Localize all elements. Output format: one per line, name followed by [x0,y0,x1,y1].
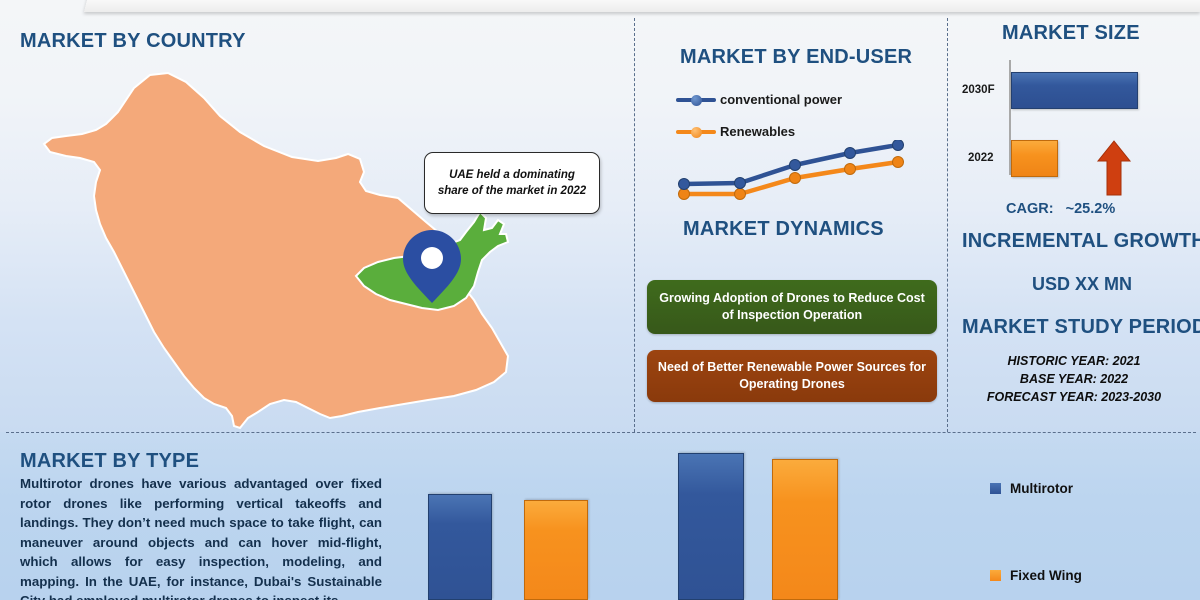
legend-line-swatch-blue [676,94,716,106]
vertical-divider-right [947,18,948,432]
map-svg [8,60,608,430]
study-period-historic-year: HISTORIC YEAR: 2021 [952,352,1196,370]
legend-swatch-multirotor [990,483,1001,494]
legend-swatch-fixed-wing [990,570,1001,581]
growth-arrow-icon [1096,140,1132,196]
market-by-end-user-heading: MARKET BY END-USER [680,46,912,69]
horizontal-divider [6,432,1196,433]
legend-line-swatch-orange [676,126,716,138]
type-bar-fixedwing-2022[interactable] [524,500,588,600]
market-dynamics-restraint-text: Need of Better Renewable Power Sources f… [657,359,927,393]
type-bar-fixedwing-2030f[interactable] [772,459,838,600]
end-user-legend-label-renewables: Renewables [720,124,795,139]
end-user-legend-item-renewables[interactable]: Renewables [676,124,795,139]
end-user-line-chart [660,140,920,210]
growth-arrow-svg [1096,140,1132,196]
end-user-legend-item-conventional[interactable]: conventional power [676,92,842,107]
type-legend-label-fixed-wing: Fixed Wing [1010,568,1082,583]
market-size-bar-2030f[interactable] [1011,72,1138,109]
market-size-label-2030f: 2030F [962,84,995,96]
market-dynamics-driver-box[interactable]: Growing Adoption of Drones to Reduce Cos… [647,280,937,334]
type-bar-multirotor-2030f[interactable] [678,453,744,600]
type-legend-label-multirotor: Multirotor [1010,481,1073,496]
infographic-canvas: UAE & SAUDI ARABIA UTILITY DRONE MARKET … [0,0,1200,600]
market-study-period-lines: HISTORIC YEAR: 2021 BASE YEAR: 2022 FORE… [952,352,1196,406]
incremental-growth-value: USD XX MN [962,274,1200,295]
vertical-divider-left [634,18,635,432]
study-period-forecast-year: FORECAST YEAR: 2023-2030 [952,388,1196,406]
cagr-label: CAGR: [1006,201,1054,217]
market-dynamics-driver-text: Growing Adoption of Drones to Reduce Cos… [657,290,927,324]
market-by-type-bar-chart [400,440,960,600]
incremental-growth-heading: INCREMENTAL GROWTH [962,230,1200,253]
type-legend-item-fixed-wing[interactable]: Fixed Wing [990,568,1190,583]
market-by-type-body-text: Multirotor drones have various advantage… [20,474,382,600]
page-title: UAE & SAUDI ARABIA UTILITY DRONE MARKET [190,0,1090,8]
map-callout: UAE held a dominating share of the marke… [424,152,600,214]
market-size-heading: MARKET SIZE [1002,22,1140,45]
type-bar-multirotor-2022[interactable] [428,494,492,600]
market-dynamics-restraint-box[interactable]: Need of Better Renewable Power Sources f… [647,350,937,402]
market-dynamics-heading: MARKET DYNAMICS [683,218,884,241]
study-period-base-year: BASE YEAR: 2022 [952,370,1196,388]
type-legend-item-multirotor[interactable]: Multirotor [990,481,1190,496]
end-user-line-chart-svg [660,140,920,210]
cagr-value-line: CAGR: ~25.2% [1006,201,1186,217]
market-by-type-heading: MARKET BY TYPE [20,450,199,473]
map-callout-text: UAE held a dominating share of the marke… [433,167,591,199]
end-user-legend-label-conventional: conventional power [720,92,842,107]
cagr-value: ~25.2% [1066,201,1116,217]
market-size-bar-2022[interactable] [1011,140,1058,177]
market-size-label-2022: 2022 [968,152,994,164]
market-by-country-heading: MARKET BY COUNTRY [20,30,246,53]
market-study-period-heading: MARKET STUDY PERIOD [962,316,1200,339]
country-map [8,60,608,430]
